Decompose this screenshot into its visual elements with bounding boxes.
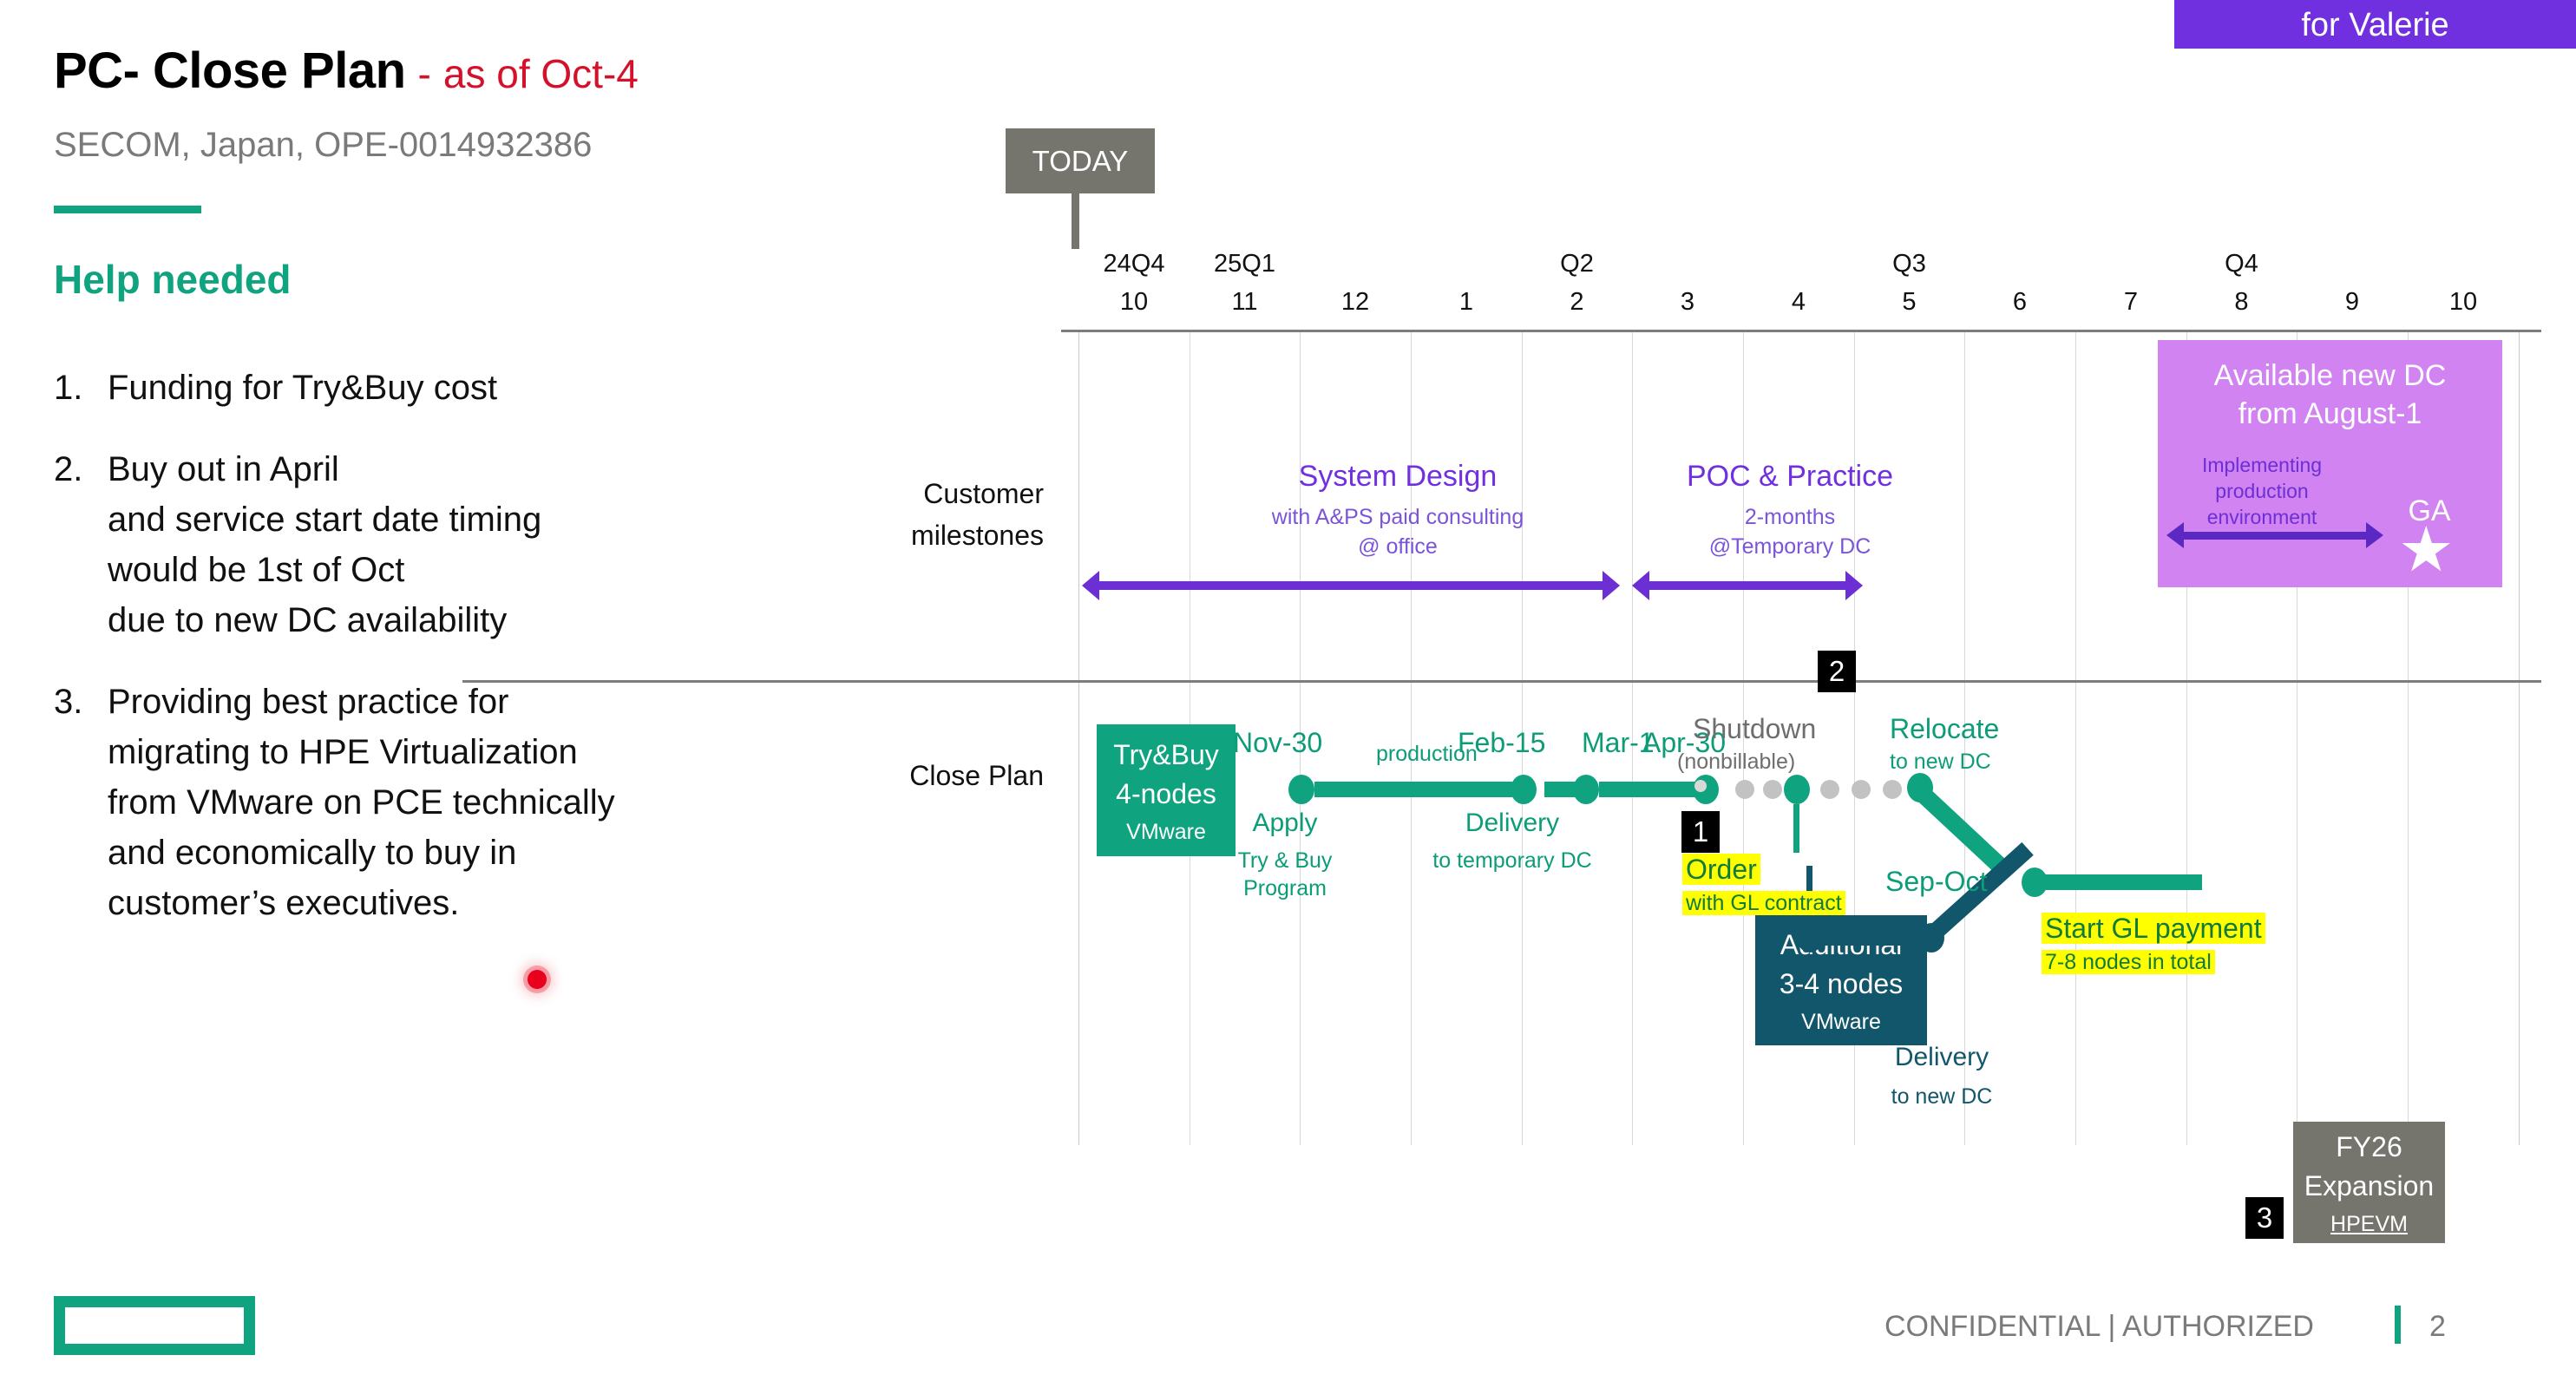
footer-accent-bar bbox=[2395, 1306, 2401, 1344]
quarter-label: 24Q4 bbox=[1078, 250, 1190, 278]
row-label-line: Customer bbox=[801, 473, 1044, 514]
milestone-label-shutdown: Shutdown bbox=[1693, 713, 1816, 745]
reviewer-note-line2: for Valerie bbox=[2174, 6, 2576, 45]
milestone-label-delivery-newdc: Delivery bbox=[1855, 1043, 2029, 1072]
track-node-feb15 bbox=[1511, 775, 1537, 804]
list-item-line: from VMware on PCE technically bbox=[108, 777, 615, 828]
chip-line2: 3-4 nodes bbox=[1780, 965, 1903, 1003]
new-dc-title: Available new DC from August-1 bbox=[2158, 357, 2502, 433]
duration-arrow-poc-practice bbox=[1632, 571, 1863, 600]
slide-canvas: PC- Close Plan - as of Oct-4 SECOM, Japa… bbox=[0, 0, 2576, 1388]
milestone-sub-poc-practice: 2-months @Temporary DC bbox=[1625, 503, 1955, 562]
track-node-nov30 bbox=[1288, 775, 1314, 804]
milestone-date-feb15: Feb-15 bbox=[1458, 727, 1545, 759]
row-label-line: milestones bbox=[801, 514, 1044, 556]
title-accent-rule bbox=[54, 206, 201, 213]
gridline bbox=[1411, 330, 1412, 1145]
chip-line3: VMware bbox=[1801, 1010, 1881, 1035]
arrow-bar bbox=[2181, 532, 2369, 540]
track-dot bbox=[1820, 780, 1839, 799]
list-item-line: Providing best practice for bbox=[108, 677, 615, 727]
gl-payment-label: Start GL payment bbox=[2042, 913, 2265, 944]
new-dc-sub-line: production bbox=[2177, 479, 2347, 505]
track-dot bbox=[1852, 780, 1871, 799]
today-marker-label: TODAY bbox=[1032, 145, 1129, 178]
page-title-asof: as of Oct-4 bbox=[443, 50, 639, 97]
track-dot bbox=[1735, 780, 1754, 799]
month-label: 1 bbox=[1411, 288, 1522, 317]
track-dot bbox=[1883, 780, 1902, 799]
timeline-divider-line bbox=[462, 680, 2541, 683]
track-segment-production bbox=[1314, 782, 1512, 797]
section-heading-help-needed: Help needed bbox=[54, 256, 292, 303]
callout-badge-2: 2 bbox=[1818, 651, 1856, 692]
chip-fy26-expansion: FY26 Expansion HPEVM bbox=[2293, 1122, 2445, 1243]
arrow-head-right-icon bbox=[1845, 571, 1863, 600]
month-label: 10 bbox=[2408, 288, 2519, 317]
order-sub-label: with GL contract bbox=[1682, 891, 1845, 915]
gridline bbox=[2519, 330, 2520, 1145]
quarter-label: Q3 bbox=[1854, 250, 1964, 278]
quarter-label: 25Q1 bbox=[1190, 250, 1300, 278]
track-dot bbox=[1763, 780, 1782, 799]
list-item: 2. Buy out in April and service start da… bbox=[54, 444, 887, 645]
milestone-sub-apply-title: Apply bbox=[1216, 809, 1354, 838]
timeline-axis-line bbox=[1061, 330, 2541, 332]
today-marker-flag: TODAY bbox=[1006, 128, 1155, 193]
milestone-sub-shutdown: (nonbillable) bbox=[1677, 750, 1795, 775]
footer-page-number: 2 bbox=[2429, 1310, 2446, 1344]
chip-try-and-buy: Try&Buy 4-nodes VMware bbox=[1097, 724, 1236, 856]
month-label: 6 bbox=[1964, 288, 2075, 317]
list-item-line: and economically to buy in bbox=[108, 828, 615, 878]
available-new-dc-block: Available new DC from August-1 Implement… bbox=[2158, 340, 2502, 587]
month-label: 9 bbox=[2297, 288, 2408, 317]
chip-line2: Expansion bbox=[2304, 1167, 2434, 1205]
milestone-label-sepoct: Sep-Oct bbox=[1885, 866, 1987, 898]
month-label: 7 bbox=[2075, 288, 2186, 317]
new-dc-title-line: Available new DC bbox=[2158, 357, 2502, 396]
month-label: 11 bbox=[1190, 288, 1300, 317]
mouse-cursor-indicator bbox=[528, 970, 547, 989]
milestone-sub-line: @ office bbox=[1181, 533, 1615, 562]
milestone-sub-line: 2-months bbox=[1625, 503, 1955, 533]
duration-arrow-implementing-production bbox=[2166, 522, 2383, 548]
list-item-number: 3. bbox=[54, 677, 108, 928]
chip-line1: FY26 bbox=[2336, 1128, 2402, 1166]
reviewer-note-banner: as of October-4 for Valerie bbox=[2174, 0, 2576, 49]
new-dc-title-line: from August-1 bbox=[2158, 396, 2502, 434]
list-item-line: Funding for Try&Buy cost bbox=[108, 363, 497, 413]
callout-badge-3: 3 bbox=[2245, 1197, 2284, 1239]
timeline-month-row: 10 11 12 1 2 3 4 5 6 7 8 9 10 bbox=[1078, 288, 2519, 330]
page-title-dash: - bbox=[418, 50, 431, 97]
arrow-head-right-icon bbox=[2366, 522, 2383, 548]
hpe-logo bbox=[54, 1296, 255, 1355]
list-item: 3. Providing best practice for migrating… bbox=[54, 677, 887, 928]
milestone-sub-relocate: to new DC bbox=[1890, 750, 1991, 775]
arrow-head-right-icon bbox=[1603, 571, 1620, 600]
arrow-bar bbox=[1647, 581, 1848, 590]
milestone-sub-delivery-temp-detail: to temporary DC bbox=[1399, 847, 1625, 874]
list-item-number: 2. bbox=[54, 444, 108, 645]
track-segment-gl-payment bbox=[2046, 874, 2202, 890]
month-label: 10 bbox=[1078, 288, 1190, 317]
footer-classification: CONFIDENTIAL | AUTHORIZED bbox=[1884, 1310, 2314, 1344]
list-item-line: would be 1st of Oct bbox=[108, 545, 541, 595]
row-label-close-plan: Close Plan bbox=[801, 755, 1044, 796]
chip-line2: 4-nodes bbox=[1116, 775, 1216, 813]
track-segment-additional-nodes bbox=[1810, 930, 1931, 946]
milestone-sub-system-design: with A&PS paid consulting @ office bbox=[1181, 503, 1615, 562]
month-label: 2 bbox=[1522, 288, 1632, 317]
list-item-number: 1. bbox=[54, 363, 108, 413]
milestone-date-nov30: Nov-30 bbox=[1233, 727, 1322, 759]
gridline bbox=[1078, 330, 1079, 1145]
list-item-body: Providing best practice for migrating to… bbox=[108, 677, 615, 928]
list-item-line: Buy out in April bbox=[108, 444, 541, 494]
list-item-line: and service start date timing bbox=[108, 494, 541, 545]
track-segment-feb-mar bbox=[1544, 782, 1576, 797]
tick-order-green bbox=[1793, 804, 1799, 853]
milestone-label-relocate: Relocate bbox=[1890, 713, 1999, 745]
milestone-sub-apply-detail: Try & Buy Program bbox=[1216, 847, 1354, 902]
track-dot bbox=[1694, 780, 1707, 792]
chip-line3: HPEVM bbox=[2330, 1212, 2408, 1237]
month-label: 5 bbox=[1854, 288, 1964, 317]
arrow-bar bbox=[1097, 581, 1605, 590]
page-title-main: PC- Close Plan bbox=[54, 42, 406, 100]
new-dc-sub: Implementing production environment bbox=[2177, 453, 2347, 531]
list-item-line: migrating to HPE Virtualization bbox=[108, 727, 615, 777]
new-dc-sub-line: Implementing bbox=[2177, 453, 2347, 479]
reviewer-note-line1: as of October-4 bbox=[2174, 0, 2576, 6]
gridline bbox=[2075, 330, 2076, 1145]
list-item-line: customer’s executives. bbox=[108, 878, 615, 928]
quarter-label: Q4 bbox=[2186, 250, 2297, 278]
today-marker-stem bbox=[1072, 193, 1079, 249]
page-title: PC- Close Plan - as of Oct-4 bbox=[54, 42, 639, 100]
callout-badge-1: 1 bbox=[1681, 811, 1720, 853]
quarter-label: Q2 bbox=[1522, 250, 1632, 278]
milestone-sub-line: with A&PS paid consulting bbox=[1181, 503, 1615, 533]
month-label: 4 bbox=[1743, 288, 1854, 317]
duration-arrow-system-design bbox=[1082, 571, 1620, 600]
order-label: Order bbox=[1682, 854, 1760, 885]
track-node-order-dark bbox=[1797, 923, 1823, 953]
gl-payment-label-wrap: Start GL payment 7-8 nodes in total bbox=[2042, 913, 2265, 975]
list-item: 1. Funding for Try&Buy cost bbox=[54, 363, 887, 413]
row-label-line: Close Plan bbox=[801, 755, 1044, 796]
timeline-quarter-row: 24Q4 25Q1 Q2 Q3 Q4 bbox=[1078, 250, 2519, 288]
milestone-sub-line: @Temporary DC bbox=[1625, 533, 1955, 562]
milestone-sub-line: Try & Buy bbox=[1216, 847, 1354, 874]
help-needed-list: 1. Funding for Try&Buy cost 2. Buy out i… bbox=[54, 363, 887, 959]
month-label: 3 bbox=[1632, 288, 1743, 317]
track-node-mar1 bbox=[1573, 775, 1599, 804]
milestone-sub-delivery-temp-title: Delivery bbox=[1426, 809, 1599, 838]
chip-line3: VMware bbox=[1126, 820, 1206, 845]
milestone-title-system-design: System Design bbox=[1207, 460, 1589, 494]
list-item-body: Buy out in April and service start date … bbox=[108, 444, 541, 645]
milestone-sub-delivery-newdc: to new DC bbox=[1855, 1083, 2029, 1110]
gl-payment-sub-label: 7-8 nodes in total bbox=[2042, 950, 2215, 974]
milestone-sub-line: Program bbox=[1216, 874, 1354, 902]
timeline-chart: 24Q4 25Q1 Q2 Q3 Q4 10 11 12 1 2 3 4 5 6 … bbox=[1078, 330, 2519, 1145]
row-label-customer-milestones: Customer milestones bbox=[801, 473, 1044, 556]
order-label-wrap: Order with GL contract bbox=[1682, 854, 1845, 916]
list-item-line: due to new DC availability bbox=[108, 595, 541, 645]
track-node-shutdown bbox=[1784, 775, 1810, 804]
month-label: 12 bbox=[1300, 288, 1411, 317]
track-node-sepoct bbox=[2022, 867, 2048, 897]
milestone-title-poc-practice: POC & Practice bbox=[1625, 460, 1955, 494]
chip-line1: Try&Buy bbox=[1113, 736, 1219, 774]
page-subtitle: SECOM, Japan, OPE-0014932386 bbox=[54, 126, 592, 165]
month-label: 8 bbox=[2186, 288, 2297, 317]
star-icon: ★ bbox=[2398, 524, 2455, 577]
list-item-body: Funding for Try&Buy cost bbox=[108, 363, 497, 413]
track-segment-mar-apr bbox=[1599, 782, 1705, 797]
